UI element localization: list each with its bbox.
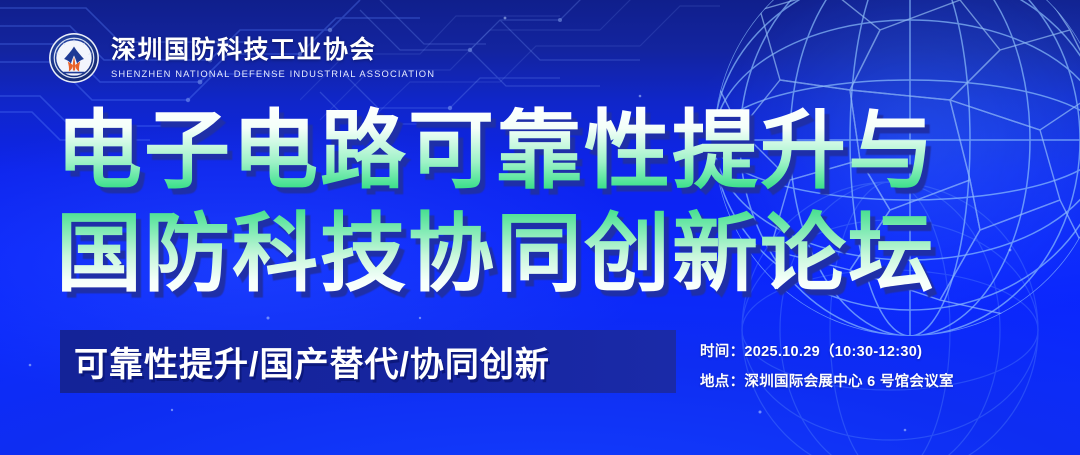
event-title: 电子电路可靠性提升与 电子电路可靠性提升与 国防科技协同创新论坛 国防科技协同创… (56, 100, 936, 306)
event-banner: 深圳国防科技工业协会 SHENZHEN NATIONAL DEFENSE IND… (0, 0, 1080, 455)
event-location: 地点：深圳国际会展中心 6 号馆会议室 (700, 370, 954, 391)
event-meta: 时间：2025.10.29（10:30-12:30) 地点：深圳国际会展中心 6… (700, 340, 954, 391)
event-title-line-2: 国防科技协同创新论坛 国防科技协同创新论坛 (56, 203, 936, 306)
subtitle-band: 可靠性提升/国产替代/协同创新 (60, 330, 676, 393)
association-name-en: SHENZHEN NATIONAL DEFENSE INDUSTRIAL ASS… (111, 68, 435, 79)
title-line-2-text: 国防科技协同创新论坛 (56, 206, 936, 302)
event-title-line-1: 电子电路可靠性提升与 电子电路可靠性提升与 (56, 100, 936, 203)
association-logo: 深圳国防科技工业协会 SHENZHEN NATIONAL DEFENSE IND… (48, 32, 435, 84)
subtitle-text: 可靠性提升/国产替代/协同创新 (74, 337, 550, 386)
event-time: 时间：2025.10.29（10:30-12:30) (700, 340, 954, 361)
association-name-cn: 深圳国防科技工业协会 (111, 37, 435, 64)
title-line-1-text: 电子电路可靠性提升与 (56, 103, 936, 199)
shield-flame-emblem-icon (48, 32, 100, 84)
